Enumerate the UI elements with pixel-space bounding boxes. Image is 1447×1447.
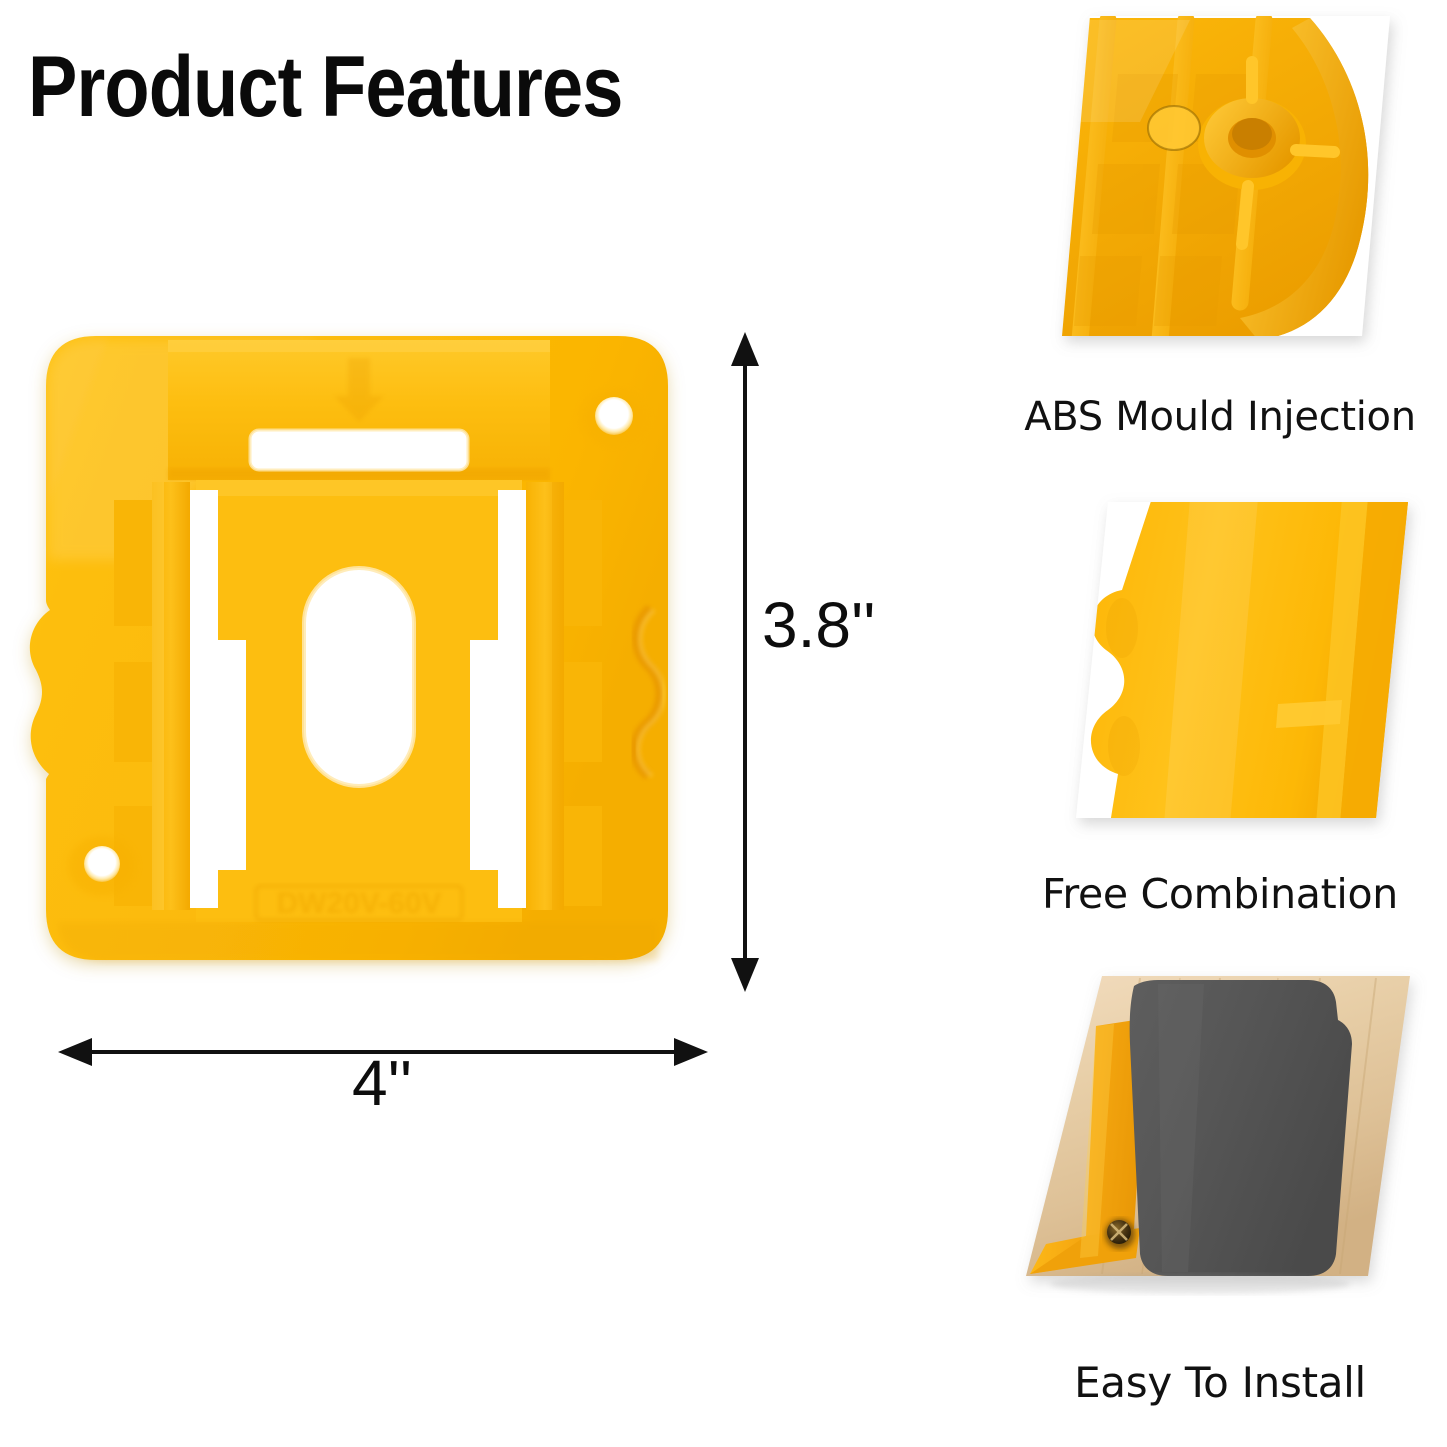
infographic-canvas: Product Features bbox=[0, 0, 1447, 1447]
feature-art-abs-mould-injection bbox=[990, 2, 1447, 394]
product-bracket-illustration: DW20V-60V bbox=[18, 310, 698, 1000]
feature-art-easy-to-install bbox=[990, 958, 1447, 1350]
feature-card-free-combination: Free Combination bbox=[990, 478, 1447, 958]
moulded-part-photo bbox=[1030, 18, 1368, 340]
feature-label-easy-to-install: Easy To Install bbox=[990, 1358, 1447, 1407]
feature-label-free-combination: Free Combination bbox=[990, 870, 1447, 918]
feature-card-easy-to-install: Easy To Install bbox=[990, 958, 1447, 1447]
dimension-arrow-vertical bbox=[725, 332, 765, 992]
wavy-edge-photo bbox=[1091, 498, 1410, 824]
feature-card-abs-mould-injection: ABS Mould Injection bbox=[990, 2, 1447, 480]
body-bottom-shading bbox=[58, 922, 658, 962]
hero-product-area: DW20V-60V bbox=[0, 290, 770, 1130]
mounting-hole-bottom-left bbox=[68, 836, 136, 896]
feature-art-free-combination bbox=[990, 478, 1447, 870]
drop-shadow bbox=[1050, 1274, 1350, 1294]
top-rectangular-slot bbox=[250, 430, 468, 470]
embossed-model-plate: DW20V-60V bbox=[256, 886, 462, 920]
battery-pack bbox=[1130, 980, 1352, 1276]
feature-label-abs-mould-injection: ABS Mould Injection bbox=[990, 394, 1447, 440]
right-rail-fins bbox=[526, 482, 602, 910]
dimension-width-label: 4'' bbox=[352, 1046, 412, 1120]
embossed-model-text: DW20V-60V bbox=[276, 887, 441, 920]
mounting-screw bbox=[1105, 1219, 1135, 1249]
page-title: Product Features bbox=[28, 44, 623, 130]
center-keyhole-slot bbox=[304, 568, 414, 786]
dimension-height-label: 3.8'' bbox=[762, 588, 875, 662]
mounting-hole-top-right bbox=[580, 388, 648, 448]
